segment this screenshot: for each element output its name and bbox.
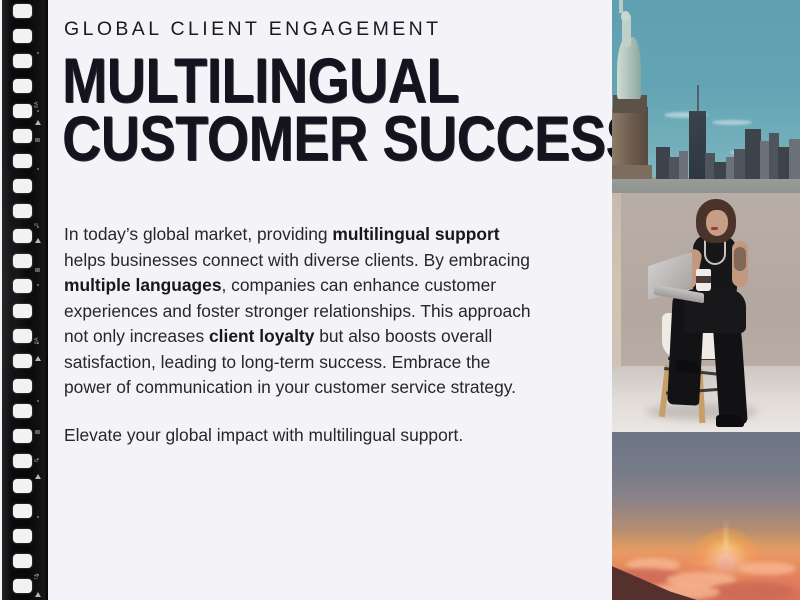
skyline-building (679, 151, 688, 179)
film-edge-dot (37, 458, 39, 460)
film-edge-triangle (35, 238, 41, 243)
sprocket-hole (13, 104, 32, 118)
sprocket-hole (13, 479, 32, 493)
film-edge-dot (37, 110, 39, 112)
sprocket-hole (13, 354, 32, 368)
sprocket-hole (13, 304, 32, 318)
cloud-puff (708, 582, 794, 600)
slide-canvas: 8A88A87A GLOBAL CLIENT ENGAGEMENT MULTIL… (0, 0, 800, 600)
body-text-run: helps businesses connect with diverse cl… (64, 250, 530, 270)
body-emphasis: multiple languages (64, 275, 222, 295)
sprocket-hole (13, 154, 32, 168)
sprocket-hole (13, 404, 32, 418)
sprocket-hole (13, 179, 32, 193)
figure-lips (711, 227, 718, 230)
sprocket-hole (13, 29, 32, 43)
film-edge-dot (37, 516, 39, 518)
headline-line-2: CUSTOMER SUCCESS (62, 111, 641, 169)
skyline-building (789, 139, 800, 179)
page-title: MULTILINGUAL CUSTOMER SUCCESS (62, 53, 641, 169)
sprocket-hole (13, 529, 32, 543)
sprocket-hole (13, 54, 32, 68)
sprocket-hole (13, 329, 32, 343)
film-edge-triangle (35, 356, 41, 361)
film-edge-triangle (35, 474, 41, 479)
skyline-building (745, 129, 761, 179)
cloud-puff (738, 562, 796, 575)
figure-shoe-right (716, 415, 744, 427)
body-emphasis: client loyalty (209, 326, 314, 346)
statue-torch (619, 0, 623, 13)
sprocket-hole (13, 504, 32, 518)
body-emphasis: multilingual support (332, 224, 499, 244)
film-edge-block (35, 138, 40, 142)
film-edge-dot (37, 52, 39, 54)
statue-pedestal (612, 107, 648, 179)
harbor-water (612, 177, 800, 193)
coffee-cup (696, 269, 711, 291)
sprocket-hole (13, 454, 32, 468)
sprocket-hole (13, 79, 32, 93)
sprocket-hole (13, 129, 32, 143)
body-text-run: In today’s global market, providing (64, 224, 332, 244)
film-edge-dot (37, 574, 39, 576)
headline-line-1: MULTILINGUAL (62, 53, 641, 111)
sprocket-hole (13, 4, 32, 18)
film-edge-triangle (35, 592, 41, 597)
body-copy: In today’s global market, providing mult… (64, 222, 540, 448)
film-edge-block (35, 430, 40, 434)
body-paragraph-2: Elevate your global impact with multilin… (64, 423, 540, 449)
film-edge-marking: 8A (35, 101, 40, 108)
film-edge-dot (37, 226, 39, 228)
film-edge-block (35, 268, 40, 272)
content-column: GLOBAL CLIENT ENGAGEMENT MULTILINGUAL CU… (64, 0, 564, 600)
figure-face (706, 210, 728, 236)
film-edge-dot (37, 342, 39, 344)
photo-woman-with-laptop-on-stool (612, 193, 800, 432)
body-paragraph-1: In today’s global market, providing mult… (64, 222, 540, 401)
studio-floor (612, 366, 800, 432)
photo-statue-of-liberty-nyc-skyline (612, 0, 800, 193)
photo-gallery-column (612, 0, 800, 600)
sprocket-hole (13, 379, 32, 393)
photo-sunset-above-the-clouds (612, 432, 800, 600)
cloud-wisp (712, 120, 752, 125)
sprocket-hole (13, 204, 32, 218)
film-edge-dot (37, 168, 39, 170)
sprocket-hole (13, 229, 32, 243)
film-edge-dot (37, 284, 39, 286)
sprocket-hole (13, 579, 32, 593)
sprocket-hole (13, 279, 32, 293)
sprocket-hole (13, 429, 32, 443)
film-strip-decoration: 8A88A87A (2, 0, 48, 600)
one-world-trade-center (689, 111, 706, 179)
figure-arm-tattoo (734, 247, 746, 271)
statue-of-liberty (612, 0, 648, 179)
film-edge-dot (37, 400, 39, 402)
skyline-building (656, 147, 670, 179)
sprocket-hole (13, 254, 32, 268)
sprocket-hole (13, 554, 32, 568)
film-edge-triangle (35, 120, 41, 125)
eyebrow-kicker: GLOBAL CLIENT ENGAGEMENT (64, 18, 441, 41)
